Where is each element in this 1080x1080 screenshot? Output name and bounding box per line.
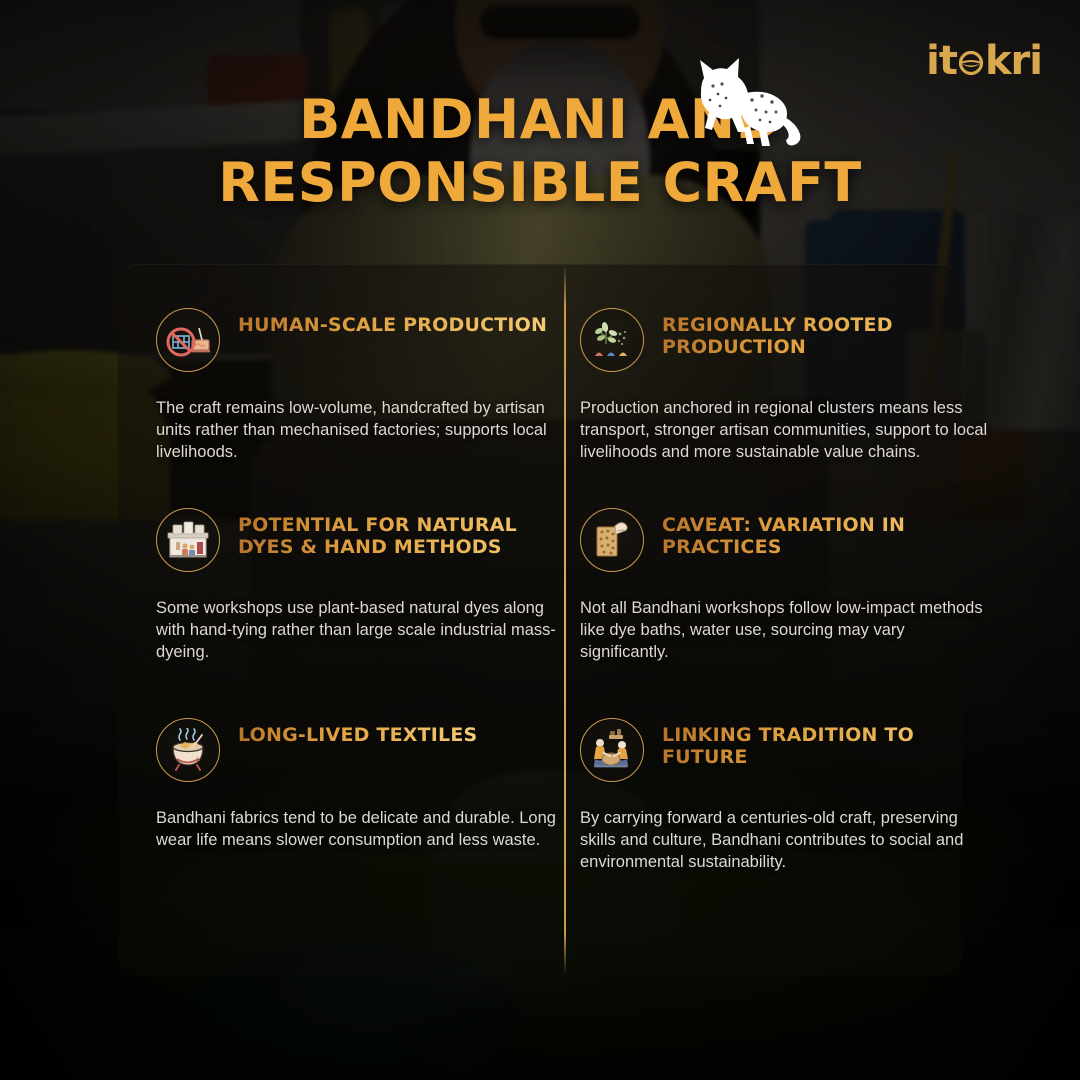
card-header: LONG-LIVED TEXTILES [156,718,556,782]
card-long-lived-textiles: LONG-LIVED TEXTILES Bandhani fabrics ten… [156,718,556,852]
card-human-scale-production: HUMAN-SCALE PRODUCTION The craft remains… [156,308,556,464]
card-linking-tradition-to-future: LINKING TRADITION TO FUTURE By carrying … [580,718,980,874]
card-body: Not all Bandhani workshops follow low-im… [580,598,990,664]
logo-text-before: it [926,38,957,84]
card-title: HUMAN-SCALE PRODUCTION [238,314,547,336]
card-caveat-variation-in-practices: CAVEAT: VARIATION IN PRACTICES Not all B… [580,508,980,664]
cat-illustration [686,50,806,155]
card-header: POTENTIAL FOR NATURAL DYES & HAND METHOD… [156,508,556,572]
card-header: REGIONALLY ROOTED PRODUCTION [580,308,980,372]
basket-icon [958,48,984,74]
card-title: CAVEAT: VARIATION IN PRACTICES [662,514,980,559]
card-title: POTENTIAL FOR NATURAL DYES & HAND METHOD… [238,514,556,559]
page-title: BANDHANI AND RESPONSIBLE CRAFT [0,92,1080,211]
card-body: The craft remains low-volume, handcrafte… [156,398,556,464]
infographic-canvas: itkri BANDHANI AND RESPONSIBLE CRAFT [0,0,1080,1080]
card-header: HUMAN-SCALE PRODUCTION [156,308,556,372]
card-body: Production anchored in regional clusters… [580,398,990,464]
card-title: LINKING TRADITION TO FUTURE [662,724,980,769]
artisan-workshop-building-icon [156,508,220,572]
steaming-dye-pot-icon [156,718,220,782]
hand-holding-patterned-fabric-icon [580,508,644,572]
no-machine-loom-icon [156,308,220,372]
card-body: Bandhani fabrics tend to be delicate and… [156,808,556,852]
two-artisans-working-icon [580,718,644,782]
card-title: LONG-LIVED TEXTILES [238,724,477,746]
card-title: REGIONALLY ROOTED PRODUCTION [662,314,980,359]
card-potential-for-natural-dyes: POTENTIAL FOR NATURAL DYES & HAND METHOD… [156,508,556,664]
cards-grid: HUMAN-SCALE PRODUCTION The craft remains… [118,264,962,976]
logo-text-after: kri [985,38,1042,84]
card-regionally-rooted-production: REGIONALLY ROOTED PRODUCTION Production … [580,308,980,464]
brand-logo[interactable]: itkri [926,38,1042,84]
title-line-2: RESPONSIBLE CRAFT [0,155,1080,212]
plants-and-dye-mounds-icon [580,308,644,372]
card-body: Some workshops use plant-based natural d… [156,598,556,664]
card-header: CAVEAT: VARIATION IN PRACTICES [580,508,980,572]
card-body: By carrying forward a centuries-old craf… [580,808,990,874]
card-header: LINKING TRADITION TO FUTURE [580,718,980,782]
